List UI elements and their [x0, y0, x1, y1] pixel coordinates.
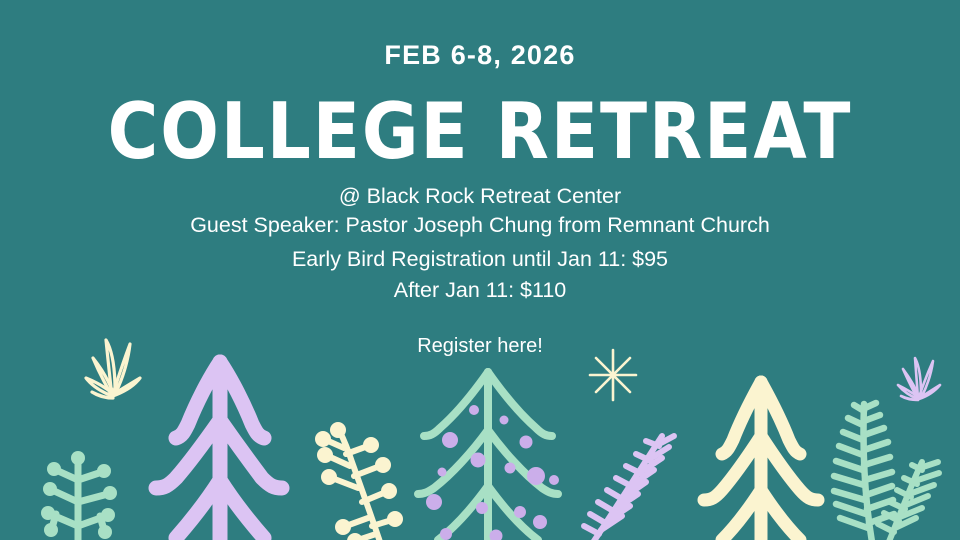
after-price-line: After Jan 11: $110 — [0, 280, 960, 302]
retreat-poster: FEB 6-8, 2026 COLLEGE RETREAT @ Black Ro… — [0, 0, 960, 540]
venue-line: @ Black Rock Retreat Center — [0, 186, 960, 208]
early-bird-price-line: Early Bird Registration until Jan 11: $9… — [0, 249, 960, 271]
poster-text-layer: FEB 6-8, 2026 COLLEGE RETREAT @ Black Ro… — [0, 0, 960, 540]
event-date: FEB 6-8, 2026 — [0, 42, 960, 69]
speaker-line: Guest Speaker: Pastor Joseph Chung from … — [0, 215, 960, 237]
page-title: COLLEGE RETREAT — [0, 92, 960, 173]
register-cta[interactable]: Register here! — [0, 336, 960, 356]
